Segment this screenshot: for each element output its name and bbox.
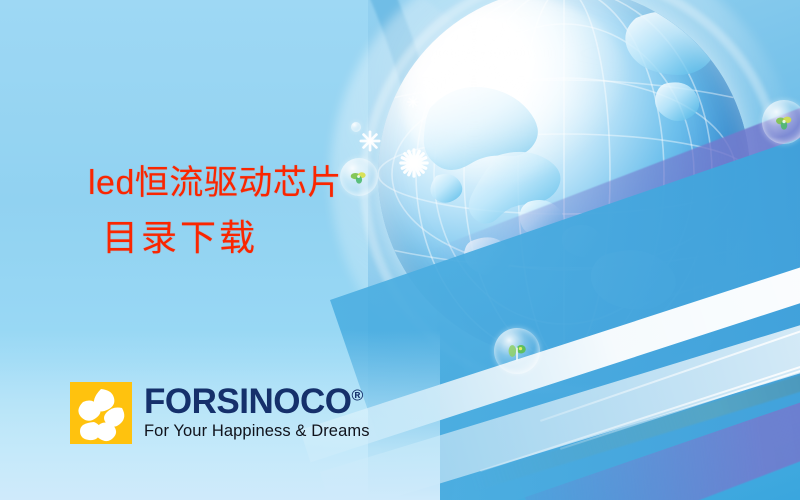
promo-banner: led恒流驱动芯片 目录下载 FORSINOCO® For Your Happi… [0,0,800,500]
headline-line-1: led恒流驱动芯片 [88,166,342,200]
starburst-mini-icon [406,95,420,109]
brand-name-text: FORSINOCO [144,382,351,421]
brand-tagline: For Your Happiness & Dreams [144,422,370,441]
brand-name: FORSINOCO® [144,384,370,419]
forsinoco-pinwheel-mark-icon [70,382,132,444]
headline-block: led恒流驱动芯片 目录下载 [88,166,342,256]
headline-line-2: 目录下载 [102,220,342,256]
logo-text-block: FORSINOCO® For Your Happiness & Dreams [144,382,370,441]
bubble-with-green-pinwheel-icon [340,158,378,196]
bubble-with-green-leaf-icon [494,328,540,374]
starburst-small-icon [359,130,381,152]
bubble-tiny-icon [351,122,361,132]
brand-logo: FORSINOCO® For Your Happiness & Dreams [70,382,370,444]
registered-trademark-symbol: ® [351,387,362,404]
bubble-right-edge-icon [762,100,800,144]
starburst-large-icon [399,148,429,178]
